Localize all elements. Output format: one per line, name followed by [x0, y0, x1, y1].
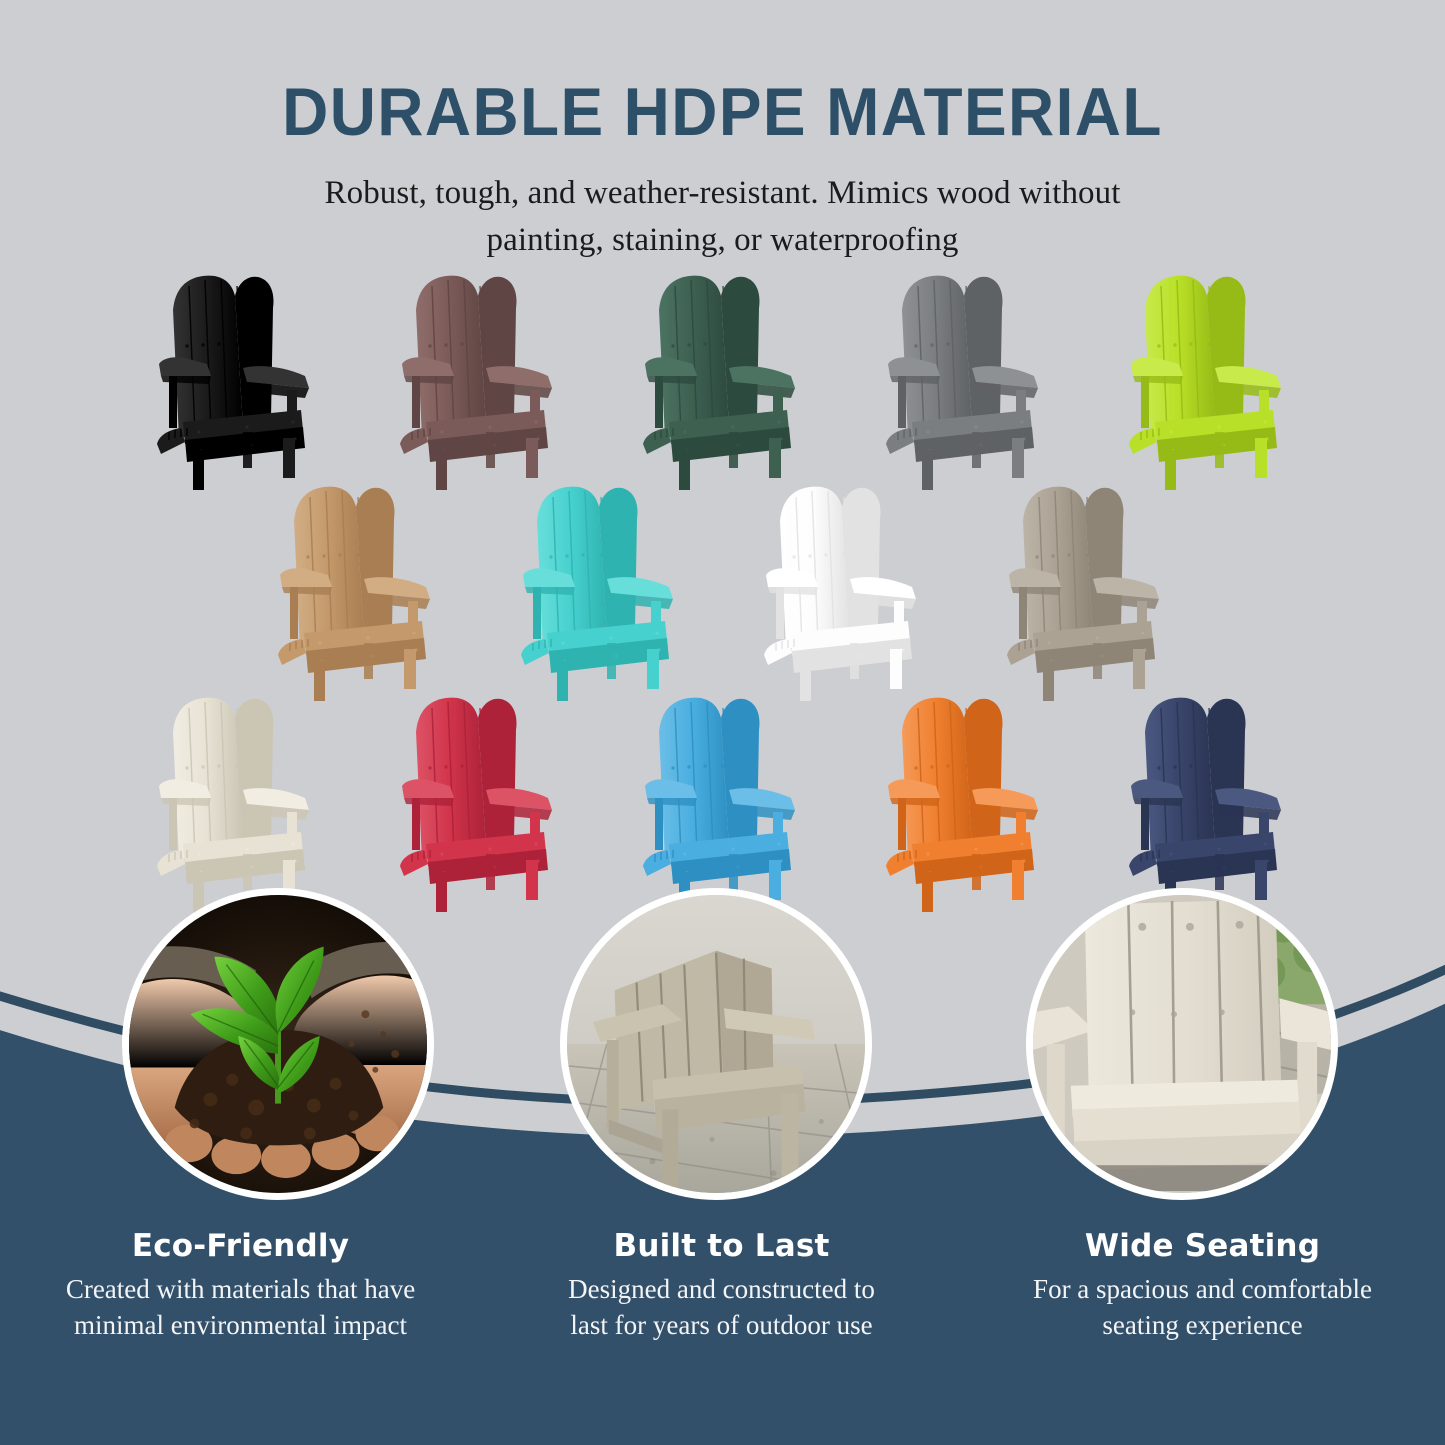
front-right-leg	[526, 438, 538, 478]
left-arm-post	[1141, 376, 1149, 428]
left-arm-post	[1019, 587, 1027, 639]
chair-color-grid	[0, 272, 1445, 912]
chair-back	[1085, 899, 1282, 1090]
left-arm-post	[169, 798, 177, 850]
page-subtitle: Robust, tough, and weather-resistant. Mi…	[0, 146, 1445, 264]
chair-teak-graphic	[268, 483, 448, 701]
feature-wide-seating: Wide Seating For a spacious and comforta…	[962, 1228, 1443, 1343]
chair-turquoise-graphic	[511, 483, 691, 701]
chair-black-graphic	[147, 272, 327, 490]
chair-navy-graphic	[1119, 694, 1299, 912]
chair-gray-beige[interactable]	[997, 483, 1177, 701]
rear-leg	[607, 643, 616, 679]
feature-body-line-2: last for years of outdoor use	[570, 1310, 872, 1340]
chair-red[interactable]	[390, 694, 570, 912]
front-right-leg	[1255, 438, 1267, 478]
feature-body-line-1: Created with materials that have	[66, 1274, 415, 1304]
chair-light-blue-graphic	[633, 694, 813, 912]
rear-leg	[364, 643, 373, 679]
chair-gray[interactable]	[876, 272, 1056, 490]
rear-leg	[486, 854, 495, 890]
rear-leg	[243, 854, 252, 890]
front-right-leg	[283, 438, 295, 478]
front-left-leg	[193, 450, 204, 490]
chair-brown[interactable]	[390, 272, 570, 490]
chair-white-graphic	[754, 483, 934, 701]
chair-black[interactable]	[147, 272, 327, 490]
chair-light-blue[interactable]	[633, 694, 813, 912]
chair-lime-green[interactable]	[1119, 272, 1299, 490]
chair-dark-green-graphic	[633, 272, 813, 490]
subtitle-line-2: painting, staining, or waterproofing	[0, 217, 1445, 264]
circle-built-to-last	[560, 888, 872, 1200]
chair-white[interactable]	[754, 483, 934, 701]
chair-row-3	[0, 694, 1445, 912]
chair-ivory-graphic	[147, 694, 327, 912]
rear-leg	[1093, 643, 1102, 679]
subtitle-line-1: Robust, tough, and weather-resistant. Mi…	[0, 170, 1445, 217]
left-arm-post	[776, 587, 784, 639]
chair-gray-graphic	[876, 272, 1056, 490]
infographic-page: DURABLE HDPE MATERIAL Robust, tough, and…	[0, 0, 1445, 1445]
rear-leg	[243, 432, 252, 468]
front-right-leg	[404, 649, 416, 689]
feature-body: Designed and constructed to last for yea…	[495, 1272, 948, 1343]
feature-body: Created with materials that have minimal…	[14, 1272, 467, 1343]
chair-turquoise[interactable]	[511, 483, 691, 701]
chair-navy[interactable]	[1119, 694, 1299, 912]
chair-row-1	[0, 272, 1445, 490]
front-right-leg	[890, 649, 902, 689]
circle-eco-friendly	[122, 888, 434, 1200]
rear-leg	[850, 643, 859, 679]
front-right-leg	[647, 649, 659, 689]
chair-red-graphic	[390, 694, 570, 912]
left-arm-post	[533, 587, 541, 639]
left-arm-post	[412, 798, 420, 850]
feature-built-to-last: Built to Last Designed and constructed t…	[481, 1228, 962, 1343]
chair-lime-green-graphic	[1119, 272, 1299, 490]
left-arm-post	[655, 798, 663, 850]
rear-leg	[972, 854, 981, 890]
left-arm-post	[412, 376, 420, 428]
header: DURABLE HDPE MATERIAL Robust, tough, and…	[0, 0, 1445, 264]
rear-leg	[486, 432, 495, 468]
feature-body-line-1: For a spacious and comfortable	[1033, 1274, 1372, 1304]
rear-leg	[729, 854, 738, 890]
left-arm-post	[169, 376, 177, 428]
left-arm-post	[898, 798, 906, 850]
feature-heading: Wide Seating	[976, 1228, 1429, 1264]
feature-heading: Built to Last	[495, 1228, 948, 1264]
rear-leg	[729, 432, 738, 468]
front-right-leg	[769, 438, 781, 478]
chair-orange-graphic	[876, 694, 1056, 912]
front-right-leg	[1133, 649, 1145, 689]
feature-heading: Eco-Friendly	[14, 1228, 467, 1264]
feature-body-line-2: seating experience	[1102, 1310, 1302, 1340]
feature-text-row: Eco-Friendly Created with materials that…	[0, 1228, 1445, 1343]
left-arm-post	[290, 587, 298, 639]
feature-body-line-1: Designed and constructed to	[568, 1274, 875, 1304]
chair-orange[interactable]	[876, 694, 1056, 912]
chair-dark-green[interactable]	[633, 272, 813, 490]
left-arm-post	[898, 376, 906, 428]
chair-teak[interactable]	[268, 483, 448, 701]
chair-brown-graphic	[390, 272, 570, 490]
front-right-leg	[1012, 438, 1024, 478]
feature-body: For a spacious and comfortable seating e…	[976, 1272, 1429, 1343]
page-title: DURABLE HDPE MATERIAL	[43, 0, 1401, 146]
feature-eco-friendly: Eco-Friendly Created with materials that…	[0, 1228, 481, 1343]
left-arm-post	[655, 376, 663, 428]
chair-row-2	[0, 483, 1445, 701]
feature-body-line-2: minimal environmental impact	[74, 1310, 407, 1340]
feature-circles	[0, 888, 1445, 1218]
rear-leg	[972, 432, 981, 468]
chair-ivory[interactable]	[147, 694, 327, 912]
rear-leg	[1215, 432, 1224, 468]
rear-leg	[1215, 854, 1224, 890]
chair-gray-beige-graphic	[997, 483, 1177, 701]
left-arm-post	[1141, 798, 1149, 850]
circle-wide-seating	[1026, 888, 1338, 1200]
